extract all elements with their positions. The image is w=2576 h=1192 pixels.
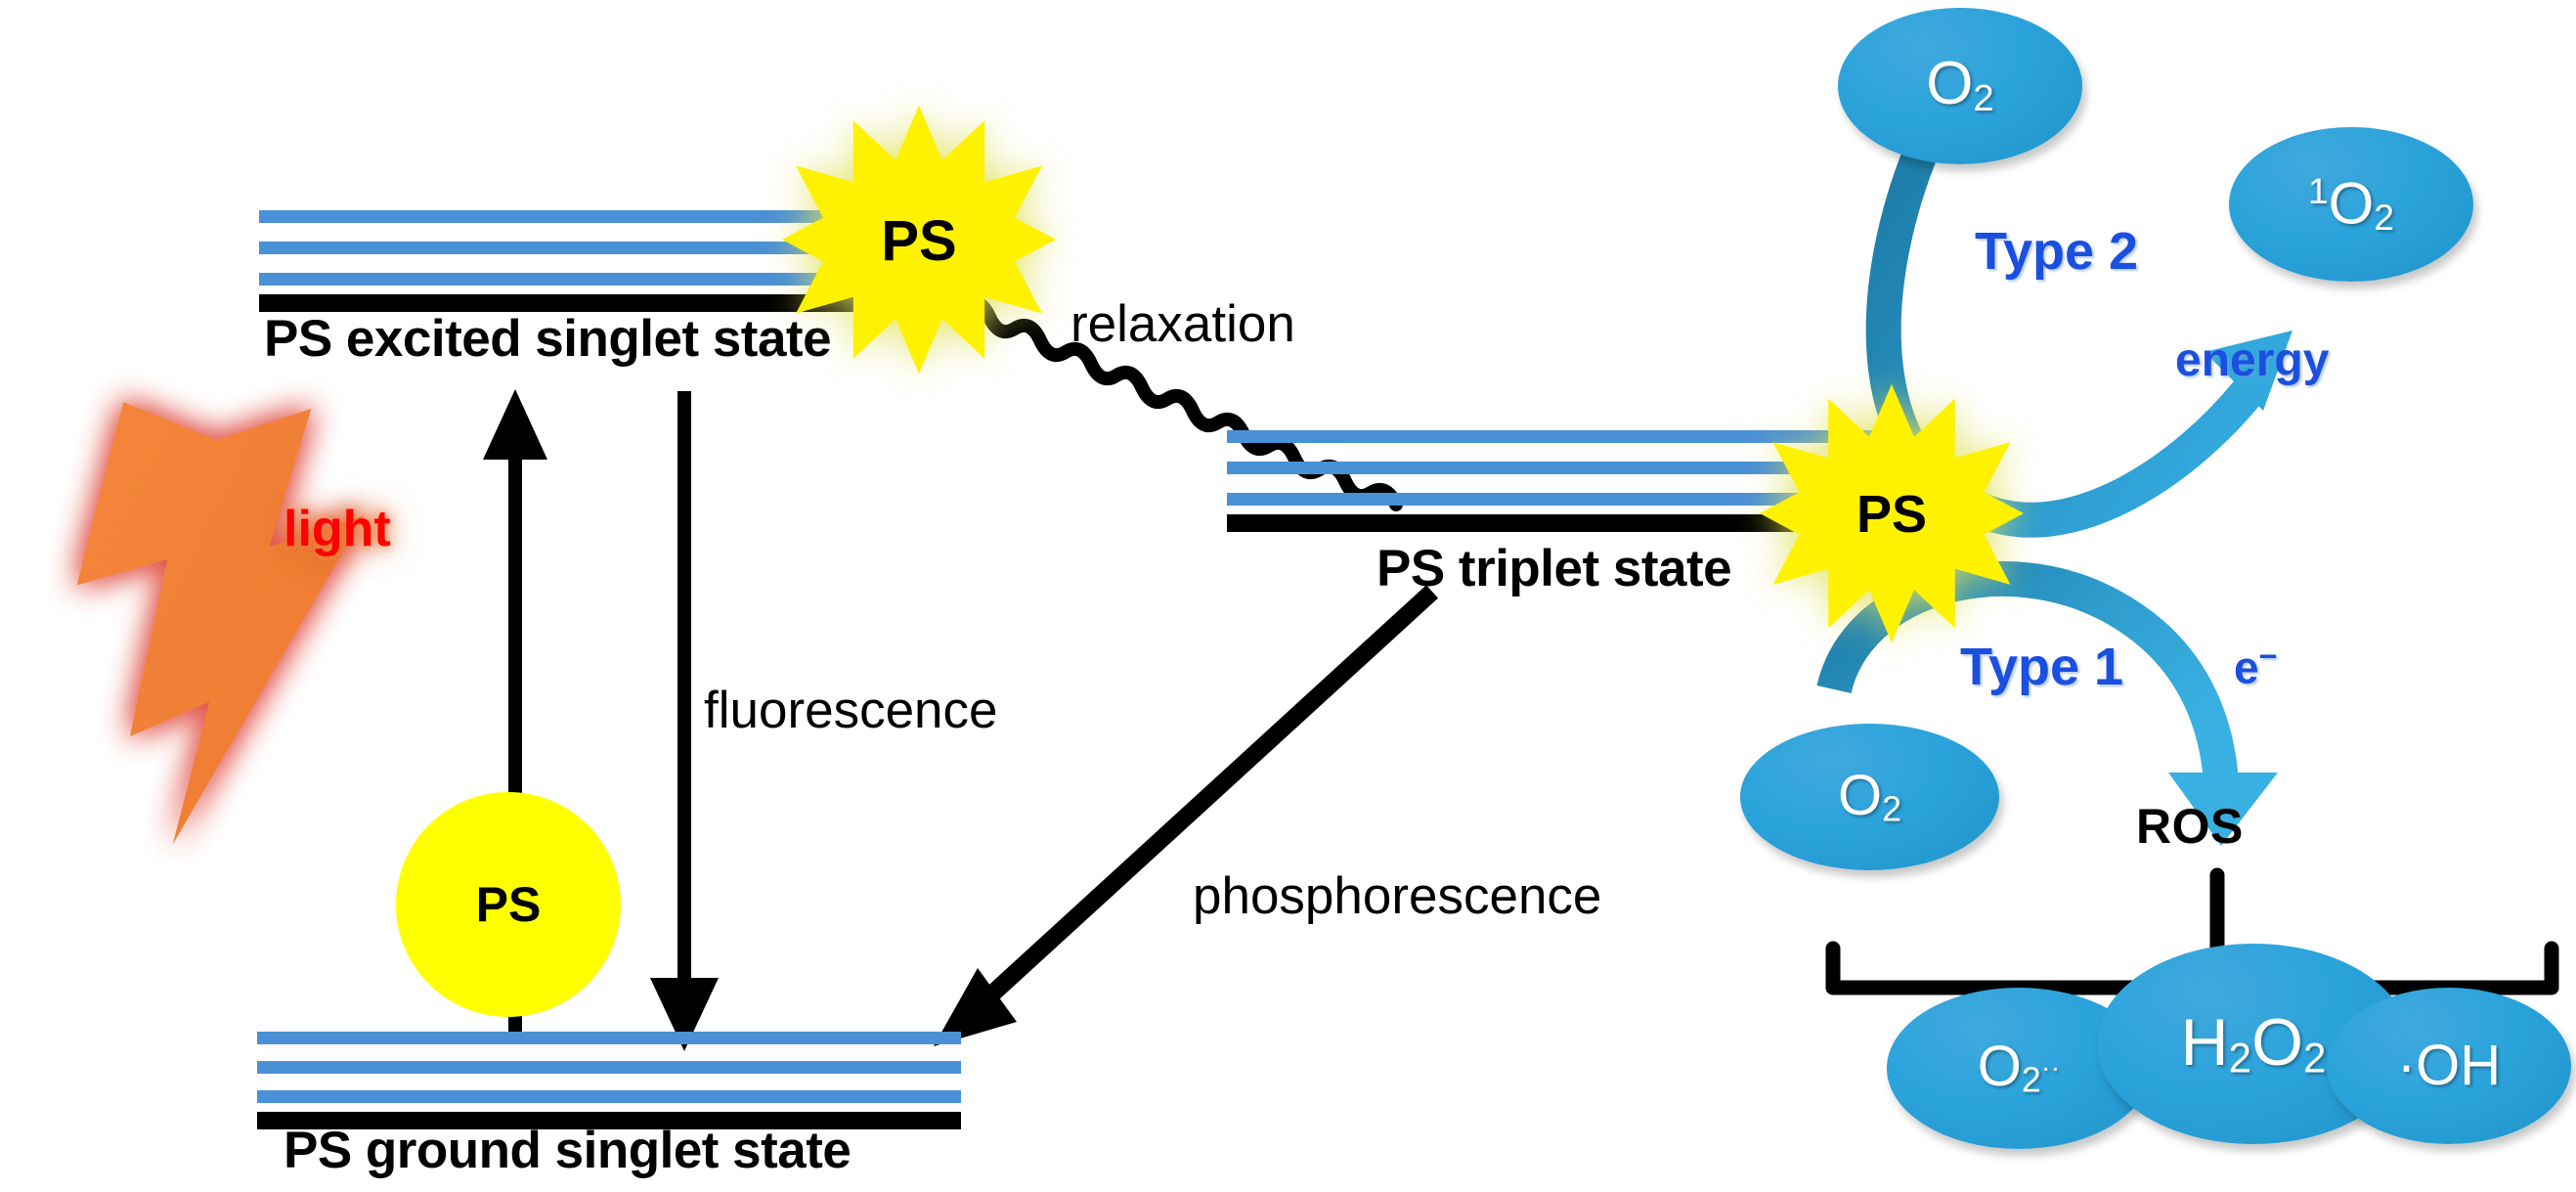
label-type-2: Type 2 <box>1975 225 2138 278</box>
label-type-1: Type 1 <box>1960 640 2123 693</box>
label-fluorescence: fluorescence <box>704 684 998 736</box>
label-ps-ground-singlet-state: PS ground singlet state <box>284 1125 851 1176</box>
energy-ladder-ground-singlet <box>257 1032 961 1129</box>
ps-molecule-circle: PS <box>396 792 621 1017</box>
starburst-ps-label: PS <box>1750 484 2033 545</box>
molecule-formula: 1O2 <box>2308 173 2394 236</box>
electron-symbol: e <box>2234 641 2259 692</box>
label-phosphorescence: phosphorescence <box>1193 870 1601 922</box>
ps-circle-label: PS <box>476 876 542 933</box>
starburst-ps-label: PS <box>772 208 1066 274</box>
molecule-formula: O2 <box>1838 768 1901 826</box>
molecule-oxygen-type2-reactant: O2 <box>1838 8 2082 164</box>
electron-charge: − <box>2259 639 2278 674</box>
molecule-formula: O2·· <box>1978 1038 2060 1097</box>
diagram-canvas: PS excited singlet state PS triplet stat… <box>0 0 2576 1192</box>
label-relaxation: relaxation <box>1070 298 1295 350</box>
molecule-hydroxyl-radical: ·OH <box>2327 988 2571 1144</box>
label-light: light <box>284 504 391 554</box>
lightning-bolt-icon <box>56 375 401 852</box>
label-energy: energy <box>2175 337 2329 384</box>
label-electron: e− <box>2234 640 2277 689</box>
molecule-formula: ·OH <box>2397 1037 2501 1094</box>
vibrational-level <box>257 1061 961 1074</box>
molecule-oxygen-type1-reactant: O2 <box>1740 724 1999 870</box>
ps-starburst-triplet: PS <box>1750 381 2033 645</box>
phosphorescence-arrow <box>934 592 1432 1046</box>
label-ps-excited-singlet-state: PS excited singlet state <box>264 313 831 365</box>
vibrational-level <box>257 1032 961 1044</box>
molecule-formula: H2O2 <box>2181 1009 2327 1080</box>
label-ros-heading: ROS <box>2136 802 2244 851</box>
molecule-formula: O2 <box>1926 54 1994 117</box>
ps-starburst-excited: PS <box>772 103 1066 376</box>
molecule-singlet-oxygen-product: 1O2 <box>2229 127 2473 282</box>
label-ps-triplet-state: PS triplet state <box>1376 543 1731 595</box>
vibrational-level <box>257 1090 961 1103</box>
